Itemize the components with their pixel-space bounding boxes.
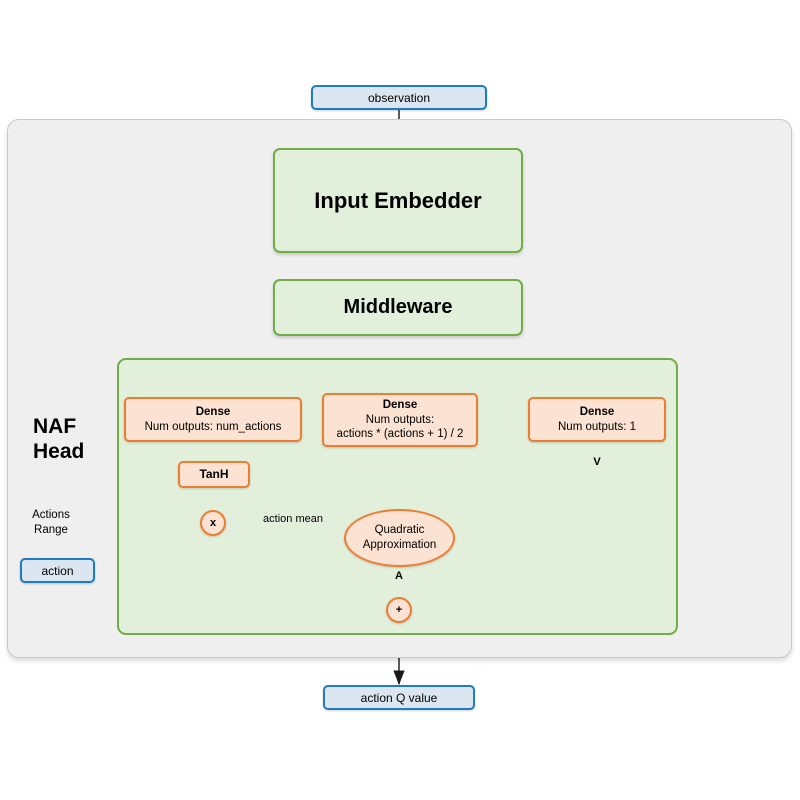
- tanh-node[interactable]: TanH: [178, 461, 250, 488]
- diagram-canvas: observation Input Embedder Middleware NA…: [0, 0, 800, 800]
- middleware-label: Middleware: [344, 296, 453, 319]
- quadratic-approximation-node[interactable]: Quadratic Approximation: [344, 509, 455, 567]
- add-operator-label: +: [396, 604, 402, 616]
- input-embedder-node[interactable]: Input Embedder: [273, 148, 523, 253]
- dense-value-subtitle: Num outputs: 1: [558, 420, 636, 434]
- observation-label: observation: [368, 91, 430, 105]
- input-embedder-label: Input Embedder: [314, 188, 481, 214]
- add-operator-node[interactable]: +: [386, 597, 412, 623]
- quadratic-approximation-line-2: Approximation: [363, 538, 437, 553]
- dense-num-actions-subtitle: Num outputs: num_actions: [145, 420, 282, 434]
- middleware-node[interactable]: Middleware: [273, 279, 523, 336]
- action-input-label: action: [41, 564, 73, 578]
- dense-quadratic-subtitle-1: Num outputs:: [366, 413, 434, 427]
- dense-num-actions-title: Dense: [196, 405, 231, 419]
- dense-value-node[interactable]: Dense Num outputs: 1: [528, 397, 666, 442]
- tanh-label: TanH: [199, 467, 228, 482]
- dense-quadratic-subtitle-2: actions * (actions + 1) / 2: [337, 427, 464, 441]
- dense-num-actions-node[interactable]: Dense Num outputs: num_actions: [124, 397, 302, 442]
- naf-head-title: NAF Head: [33, 415, 123, 465]
- dense-quadratic-title: Dense: [383, 398, 418, 412]
- action-q-value-label: action Q value: [361, 691, 438, 705]
- action-q-value-node[interactable]: action Q value: [323, 685, 475, 710]
- value-edge-label: V: [581, 456, 613, 468]
- multiply-operator-node[interactable]: x: [200, 510, 226, 536]
- advantage-edge-label: A: [383, 570, 415, 582]
- action-mean-edge-label: action mean: [241, 513, 345, 525]
- action-input-node[interactable]: action: [20, 558, 95, 583]
- observation-node[interactable]: observation: [311, 85, 487, 110]
- actions-range-label: Actions Range: [22, 508, 80, 538]
- dense-value-title: Dense: [580, 405, 615, 419]
- quadratic-approximation-line-1: Quadratic: [375, 523, 425, 538]
- dense-quadratic-node[interactable]: Dense Num outputs: actions * (actions + …: [322, 393, 478, 447]
- multiply-operator-label: x: [210, 517, 216, 529]
